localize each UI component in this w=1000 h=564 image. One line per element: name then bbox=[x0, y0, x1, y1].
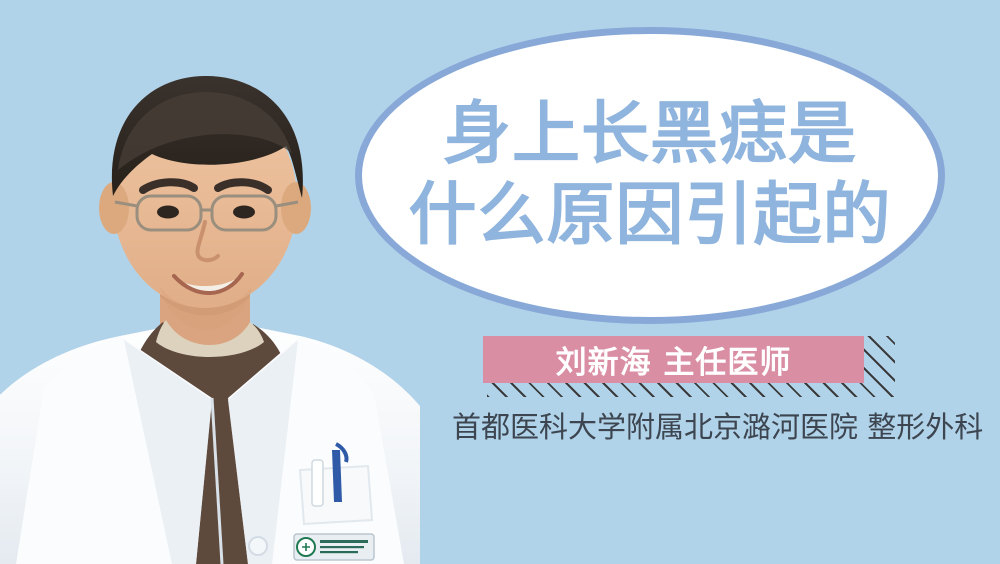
doctor-name-banner: 刘新海 主任医师 bbox=[483, 336, 864, 383]
title-ellipse bbox=[355, 27, 945, 324]
doctor-affiliation: 首都医科大学附属北京潞河医院 整形外科 bbox=[452, 404, 972, 446]
eye-left bbox=[157, 206, 179, 219]
pen-white bbox=[312, 460, 323, 506]
portrait-layers bbox=[0, 76, 420, 564]
doctor-name-text: 刘新海 主任医师 bbox=[556, 337, 792, 382]
doctor-portrait bbox=[0, 0, 420, 564]
eye-right bbox=[233, 206, 255, 219]
coat-button bbox=[249, 537, 267, 555]
staff-badge bbox=[294, 534, 374, 560]
poster-canvas: 身上长黑痣是 什么原因引起的 刘新海 主任医师 首都医科大学附属北京潞河医院 整… bbox=[0, 0, 1000, 564]
ear-right bbox=[281, 182, 311, 234]
